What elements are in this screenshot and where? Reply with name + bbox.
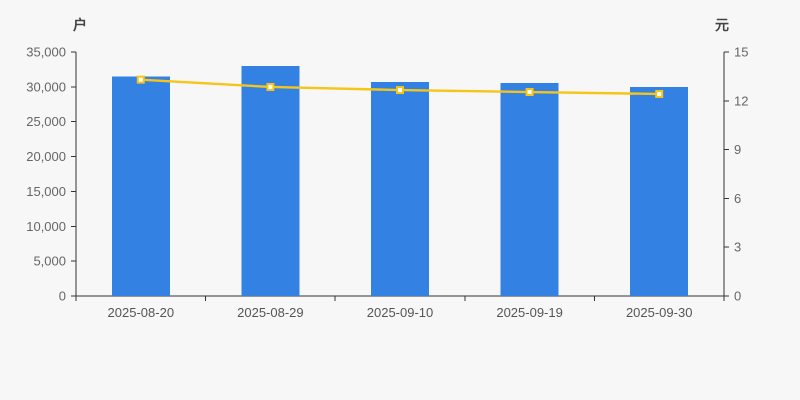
line-marker-4[interactable] [656,91,662,97]
right-axis-tick-label: 15 [734,45,748,60]
right-axis-tick-label: 0 [734,289,741,304]
right-axis-tick-label: 9 [734,142,741,157]
combo-bar-line-chart: 户 元 05,00010,00015,00020,00025,00030,000… [0,0,800,400]
left-axis-tick-label: 10,000 [26,219,66,234]
line-marker-0[interactable] [138,77,144,83]
left-axis-tick-label: 35,000 [26,45,66,60]
line-marker-1[interactable] [267,84,273,90]
left-axis-tick-label: 25,000 [26,114,66,129]
x-axis-tick-label: 2025-09-10 [367,305,434,320]
right-axis-tick-label: 3 [734,240,741,255]
x-axis-tick-label: 2025-09-30 [626,305,693,320]
bar-0[interactable] [112,76,170,296]
bar-4[interactable] [630,87,688,296]
chart-container: 户 元 05,00010,00015,00020,00025,00030,000… [0,0,800,400]
line-marker-3[interactable] [527,89,533,95]
right-axis-tick-label: 12 [734,93,748,108]
bar-1[interactable] [241,66,299,296]
left-axis-tick-label: 30,000 [26,79,66,94]
right-axis-unit-label: 元 [715,17,729,33]
bar-2[interactable] [371,82,429,296]
bar-3[interactable] [501,83,559,296]
left-axis-tick-label: 20,000 [26,149,66,164]
x-axis-tick-label: 2025-09-19 [496,305,563,320]
right-axis-tick-label: 6 [734,191,741,206]
x-axis-tick-label: 2025-08-29 [237,305,304,320]
left-axis-unit-label: 户 [73,17,87,33]
line-marker-2[interactable] [397,87,403,93]
left-axis-tick-label: 5,000 [33,254,66,269]
left-axis-tick-label: 15,000 [26,184,66,199]
x-axis-tick-label: 2025-08-20 [108,305,175,320]
left-axis-tick-label: 0 [59,289,66,304]
